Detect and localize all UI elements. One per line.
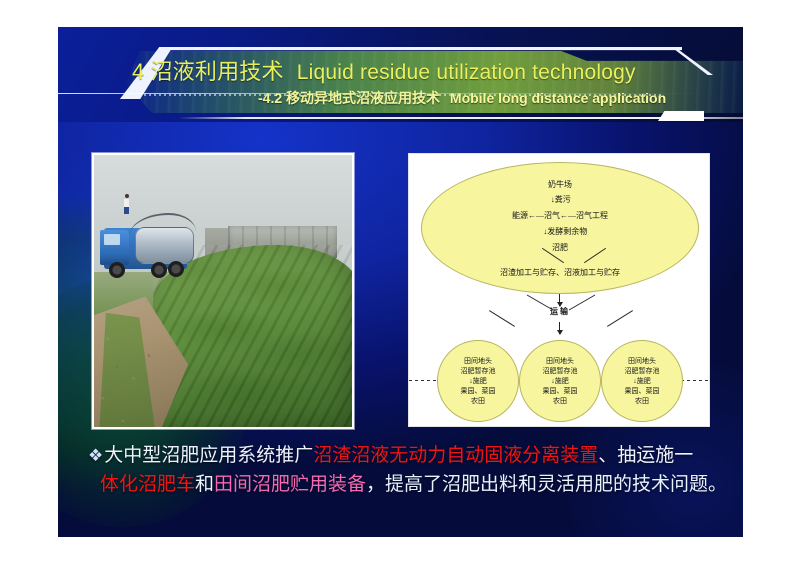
slide-title: 4 沼液利用技术 Liquid residue utilization tech… — [132, 54, 636, 86]
diagram-spread-line — [527, 295, 553, 311]
header-tab-notch — [658, 111, 704, 121]
presentation-slide: 4 沼液利用技术 Liquid residue utilization tech… — [58, 27, 743, 537]
field-circle-line1: 田间地头 — [628, 356, 656, 366]
diagram-field-circle: 田间地头 沼肥暂存池 ↓施肥 果园、菜园 农田 — [437, 340, 519, 422]
diagram-node-manure: ↓粪污 — [551, 196, 571, 204]
photo-operator-head — [125, 194, 129, 198]
caption-segment-2: 沼渣沼液无动力自动固液分离装置 — [313, 445, 598, 466]
field-circle-line4: 果园、菜园 — [625, 386, 660, 396]
field-circle-line3: ↓施肥 — [551, 376, 569, 386]
field-circle-line2: 沼肥暂存池 — [625, 366, 660, 376]
field-circle-line3: ↓施肥 — [469, 376, 487, 386]
photo-truck-wheel — [109, 262, 125, 278]
process-flow-diagram: 奶牛场 ↓粪污 能源←—沼气←—沼气工程 ↓发酵剩余物 沼肥 沼渣加工与贮存、沼… — [408, 153, 710, 427]
diagram-dashed-connector — [409, 380, 437, 381]
title-text-cn: 沼液利用技术 — [150, 59, 283, 84]
diagram-dashed-connector — [681, 380, 709, 381]
diagram-node-storage: 沼渣加工与贮存、沼液加工与贮存 — [500, 269, 620, 277]
field-circle-line5: 农田 — [471, 396, 485, 406]
field-circle-line1: 田间地头 — [464, 356, 492, 366]
field-circle-line3: ↓施肥 — [633, 376, 651, 386]
subtitle-text-cn: -4.2 移动异地式沼液应用技术 — [258, 90, 440, 106]
slide-caption: ❖大中型沼肥应用系统推广沼渣沼液无动力自动固液分离装置、抽运施一 体化沼肥车和田… — [88, 442, 728, 499]
diagram-arrow-down — [559, 322, 560, 334]
caption-segment-7: ，提高了沼肥出料和灵活用肥的技术问题。 — [366, 474, 727, 495]
diamond-bullet-icon: ❖ — [88, 446, 103, 465]
field-circle-line4: 果园、菜园 — [543, 386, 578, 396]
field-circle-line5: 农田 — [553, 396, 567, 406]
field-circle-line2: 沼肥暂存池 — [543, 366, 578, 376]
diagram-spread-line — [607, 310, 633, 327]
diagram-arrow-down — [559, 294, 560, 306]
diagram-spread-line — [569, 295, 595, 311]
caption-line-2: 体化沼肥车和田间沼肥贮用装备，提高了沼肥出料和灵活用肥的技术问题。 — [88, 471, 728, 500]
diagram-main-ellipse: 奶牛场 ↓粪污 能源←—沼气←—沼气工程 ↓发酵剩余物 沼肥 沼渣加工与贮存、沼… — [421, 162, 699, 294]
caption-line-1: ❖大中型沼肥应用系统推广沼渣沼液无动力自动固液分离装置、抽运施一 — [88, 442, 728, 471]
diagram-node-energy: 能源←—沼气←—沼气工程 — [512, 212, 608, 220]
diagram-spread-line — [489, 310, 515, 327]
header-hairline-bottom — [178, 117, 743, 119]
slide-page: 4 沼液利用技术 Liquid residue utilization tech… — [0, 0, 800, 565]
diagram-branch-line-right — [584, 248, 606, 263]
slide-header: 4 沼液利用技术 Liquid residue utilization tech… — [58, 27, 743, 122]
diagram-node-ferment: ↓发酵剩余物 — [543, 228, 587, 236]
photo-truck-window — [104, 234, 119, 245]
slide-subtitle: -4.2 移动异地式沼液应用技术 Mobile long distance ap… — [258, 88, 666, 108]
caption-segment-4: 体化沼肥车 — [100, 474, 195, 495]
field-circle-line5: 农田 — [635, 396, 649, 406]
diagram-transport-zone: 运 输 — [409, 292, 709, 340]
field-photo-image — [94, 155, 352, 427]
caption-segment-3: 、抽运施一 — [598, 445, 693, 466]
title-number: 4 — [132, 59, 144, 84]
field-circle-line4: 果园、菜园 — [461, 386, 496, 396]
photo-operator — [124, 199, 129, 214]
title-text-en: Liquid residue utilization technology — [297, 61, 636, 84]
subtitle-text-en: Mobile long distance application — [450, 90, 666, 106]
diagram-field-circle: 田间地头 沼肥暂存池 ↓施肥 果园、菜园 农田 — [519, 340, 601, 422]
field-photo — [92, 153, 354, 429]
diagram-node-biofert: 沼肥 — [552, 244, 568, 252]
caption-segment-6: 田间沼肥贮用装备 — [214, 474, 366, 495]
field-circle-line2: 沼肥暂存池 — [461, 366, 496, 376]
field-circle-line1: 田间地头 — [546, 356, 574, 366]
diagram-field-circle: 田间地头 沼肥暂存池 ↓施肥 果园、菜园 农田 — [601, 340, 683, 422]
caption-segment-1: 大中型沼肥应用系统推广 — [104, 445, 313, 466]
caption-segment-5: 和 — [195, 474, 214, 495]
photo-truck-wheel — [168, 261, 184, 277]
diagram-node-farm: 奶牛场 — [548, 181, 572, 189]
